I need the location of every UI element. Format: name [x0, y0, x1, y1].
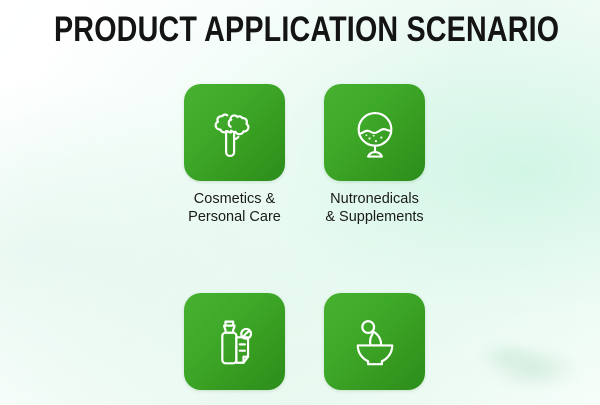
scenario-row-2: Functional Foods Clinical Applications — [184, 293, 425, 405]
bottle-and-package-icon — [206, 313, 264, 371]
scenario-caption-cosmetics: Cosmetics & Personal Care — [188, 190, 281, 226]
broccoli-icon — [206, 104, 264, 162]
scenario-tile-nutraceuticals[interactable] — [324, 84, 425, 181]
scenario-grid: Cosmetics & Personal Care — [184, 84, 425, 405]
scenario-tile-cosmetics[interactable] — [184, 84, 285, 181]
scenario-row-1: Cosmetics & Personal Care — [184, 84, 425, 226]
scenario-item-clinical[interactable]: Clinical Applications — [324, 293, 425, 405]
scenario-item-nutraceuticals[interactable]: Nutronedicals & Supplements — [324, 84, 425, 226]
supplement-bowl-icon — [346, 104, 404, 162]
background-watermark-blob — [486, 345, 582, 391]
mortar-and-pestle-icon — [346, 313, 404, 371]
scenario-tile-functional-foods[interactable] — [184, 293, 285, 390]
scenario-caption-nutraceuticals: Nutronedicals & Supplements — [325, 190, 423, 226]
scenario-item-functional-foods[interactable]: Functional Foods — [184, 293, 285, 405]
slide-canvas: PRODUCT APPLICATION SCENARIO Cosm — [0, 0, 600, 405]
scenario-tile-clinical[interactable] — [324, 293, 425, 390]
background-watermark-blob-secondary — [476, 341, 538, 371]
scenario-item-cosmetics[interactable]: Cosmetics & Personal Care — [184, 84, 285, 226]
page-title: PRODUCT APPLICATION SCENARIO — [54, 8, 546, 52]
